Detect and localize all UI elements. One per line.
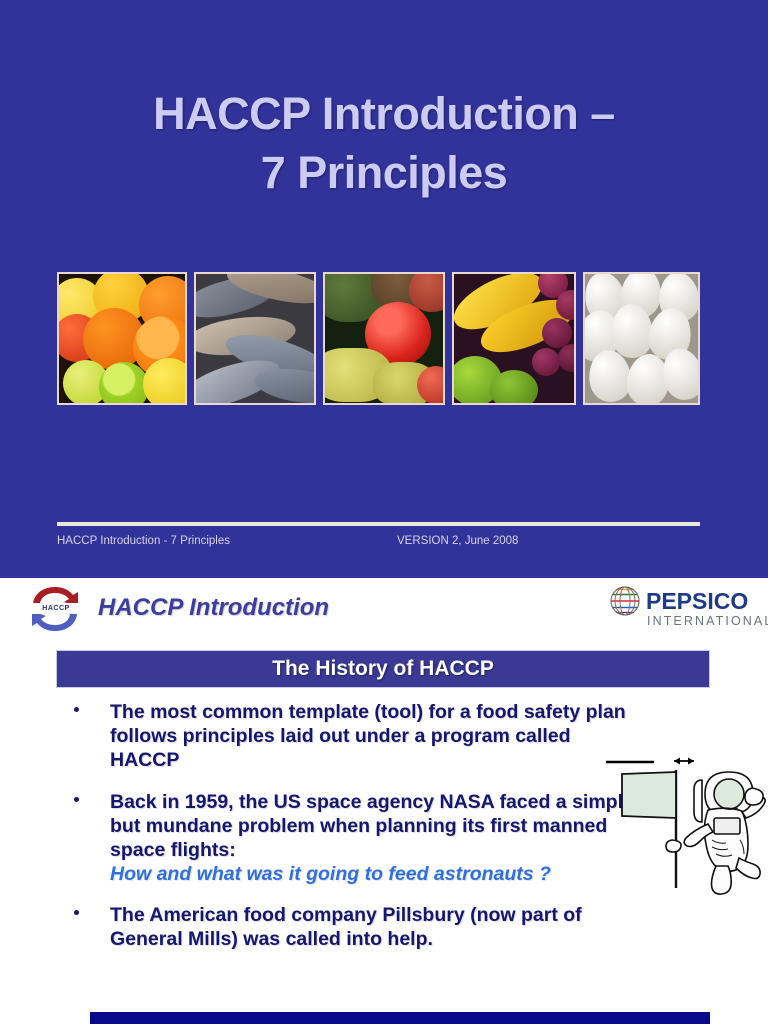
globe-icon [608,584,642,618]
bullet-dot-icon [74,797,79,802]
page-title: HACCP Introduction – 7 Principles [0,84,768,203]
bullet-dot-icon [74,910,79,915]
bullet-text: The American food company Pillsbury (now… [110,903,644,951]
food-photo-strip [57,272,700,405]
footer-version-text: VERSION 2, June 2008 [397,535,518,547]
list-item: The most common template (tool) for a fo… [64,700,644,773]
bullet-text: The most common template (tool) for a fo… [110,700,644,773]
haccp-circular-logo-icon: HACCP [24,583,86,635]
raw-fish-photo [194,272,316,405]
eggs-photo [583,272,700,405]
section-title-banner: The History of HACCP [56,650,710,688]
slide-header-title: HACCP Introduction [98,594,329,622]
astronaut-with-flag-illustration [596,748,766,898]
list-item: The American food company Pillsbury (now… [64,903,644,951]
pepsico-logo: PEPSICO INTERNATIONAL [608,583,750,635]
title-line-1: HACCP Introduction – [0,84,768,143]
section-title-text: The History of HACCP [272,657,494,681]
pepsico-wordmark: PEPSICO [646,588,748,615]
citrus-fruit-photo [57,272,187,405]
bullet-subtext: How and what was it going to feed astron… [110,862,644,886]
slide-footer: HACCP Introduction - 7 Principles VERSIO… [57,535,700,553]
slide-header: HACCP HACCP Introduction PEPSICO INTERNA… [0,578,768,640]
title-line-2: 7 Principles [0,143,768,202]
slide-bottom-bar [90,1012,710,1024]
haccp-logo-label: HACCP [30,603,82,614]
list-item: Back in 1959, the US space agency NASA f… [64,790,644,887]
bullet-text: Back in 1959, the US space agency NASA f… [110,790,644,863]
bullet-dot-icon [74,707,79,712]
title-slide: HACCP Introduction – 7 Principles HACCP … [0,0,768,578]
bullet-list: The most common template (tool) for a fo… [64,700,644,969]
corn-grapes-photo [452,272,576,405]
footer-divider [57,522,700,526]
vegetables-tomato-photo [323,272,446,405]
footer-left-text: HACCP Introduction - 7 Principles [57,535,230,547]
pepsico-international-label: INTERNATIONAL [647,614,768,628]
